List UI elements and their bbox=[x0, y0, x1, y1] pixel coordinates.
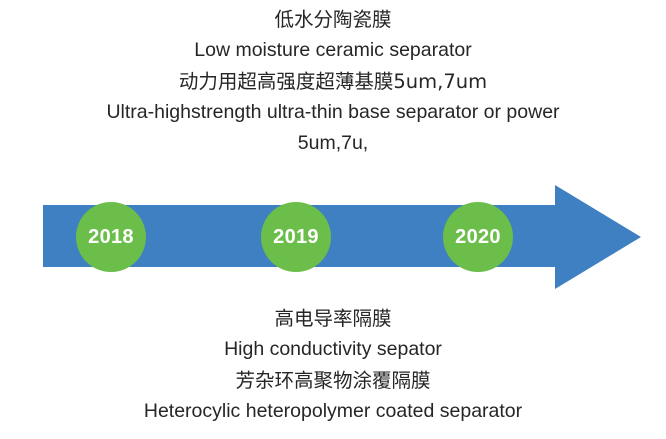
milestone-2019[interactable]: 2019 bbox=[261, 202, 331, 272]
bottom-text-line-1: 高电导率隔膜 bbox=[0, 303, 666, 334]
top-text-line-3: 动力用超高强度超薄基膜5um,7um bbox=[0, 66, 666, 97]
timeline-diagram: 低水分陶瓷膜 Low moisture ceramic separator 动力… bbox=[0, 0, 666, 439]
milestone-2020[interactable]: 2020 bbox=[443, 202, 513, 272]
top-text-line-4: Ultra-highstrength ultra-thin base separ… bbox=[0, 97, 666, 128]
bottom-text-line-2: High conductivity sepator bbox=[0, 334, 666, 365]
milestone-label-2019: 2019 bbox=[273, 226, 319, 249]
bottom-text-line-4: Heterocylic heteropolymer coated separat… bbox=[0, 396, 666, 427]
bottom-description-block: 高电导率隔膜 High conductivity sepator 芳杂环高聚物涂… bbox=[0, 303, 666, 427]
top-description-block: 低水分陶瓷膜 Low moisture ceramic separator 动力… bbox=[0, 4, 666, 159]
top-text-line-2: Low moisture ceramic separator bbox=[0, 35, 666, 66]
top-text-line-1: 低水分陶瓷膜 bbox=[0, 4, 666, 35]
bottom-text-line-3: 芳杂环高聚物涂覆隔膜 bbox=[0, 365, 666, 396]
arrow-shape-icon bbox=[43, 185, 641, 289]
milestone-2018[interactable]: 2018 bbox=[76, 202, 146, 272]
milestone-label-2020: 2020 bbox=[455, 226, 501, 249]
top-text-line-5: 5um,7u, bbox=[0, 128, 666, 159]
milestone-label-2018: 2018 bbox=[88, 226, 134, 249]
